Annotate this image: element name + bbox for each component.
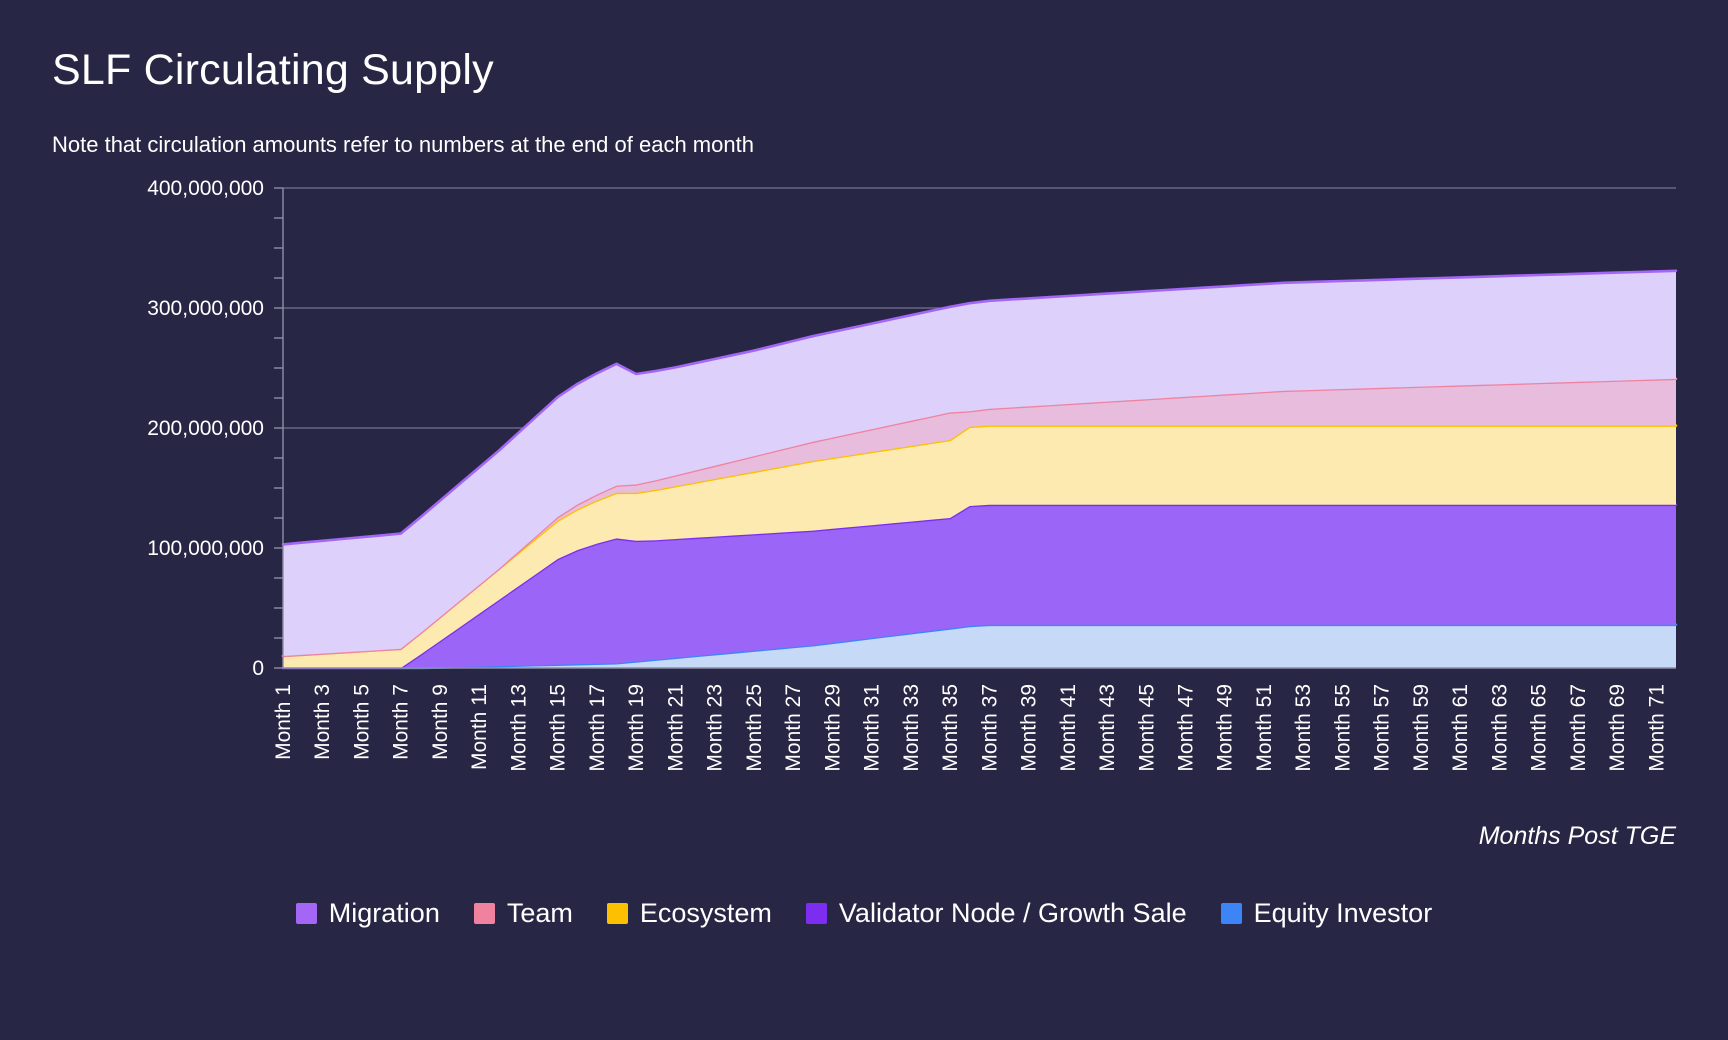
stacked-area-chart: 0100,000,000200,000,000300,000,000400,00…: [0, 0, 1728, 1040]
x-tick-label: Month 35: [939, 684, 962, 772]
x-tick-label: Month 19: [625, 684, 648, 772]
x-tick-label: Month 67: [1567, 684, 1590, 772]
x-tick-label: Month 37: [978, 684, 1001, 772]
x-tick-label: Month 71: [1645, 684, 1668, 772]
x-tick-label: Month 5: [350, 684, 373, 760]
y-tick-labels: 0100,000,000200,000,000300,000,000400,00…: [147, 177, 264, 680]
x-tick-label: Month 11: [468, 684, 491, 770]
legend-item[interactable]: Equity Investor: [1221, 898, 1433, 929]
area-series-group: [283, 271, 1676, 668]
x-tick-label: Month 57: [1371, 684, 1394, 772]
x-tick-label: Month 47: [1175, 684, 1198, 772]
chart-legend: MigrationTeamEcosystemValidator Node / G…: [0, 898, 1728, 929]
y-tick-label: 300,000,000: [147, 297, 264, 320]
legend-item[interactable]: Migration: [296, 898, 440, 929]
x-tick-label: Month 29: [821, 684, 844, 772]
x-tick-label: Month 65: [1528, 684, 1551, 772]
legend-item[interactable]: Team: [474, 898, 573, 929]
chart-plot-area: 0100,000,000200,000,000300,000,000400,00…: [0, 0, 1728, 1040]
x-axis-title: Months Post TGE: [1479, 822, 1676, 851]
x-tick-labels: Month 1Month 3Month 5Month 7Month 9Month…: [272, 684, 1668, 772]
x-tick-label: Month 31: [861, 684, 884, 772]
x-tick-label: Month 9: [429, 684, 452, 760]
x-tick-label: Month 45: [1135, 684, 1158, 772]
legend-item-label: Team: [507, 898, 573, 929]
x-tick-label: Month 53: [1292, 684, 1315, 772]
legend-swatch-icon: [806, 903, 827, 924]
legend-swatch-icon: [607, 903, 628, 924]
legend-swatch-icon: [1221, 903, 1242, 924]
x-tick-label: Month 27: [782, 684, 805, 772]
legend-item-label: Migration: [329, 898, 440, 929]
y-tick-label: 200,000,000: [147, 417, 264, 440]
legend-swatch-icon: [474, 903, 495, 924]
legend-item[interactable]: Validator Node / Growth Sale: [806, 898, 1187, 929]
x-tick-label: Month 43: [1096, 684, 1119, 772]
legend-item-label: Validator Node / Growth Sale: [839, 898, 1187, 929]
x-tick-label: Month 49: [1214, 684, 1237, 772]
x-tick-label: Month 7: [390, 684, 413, 760]
x-tick-label: Month 25: [743, 684, 766, 772]
legend-item-label: Equity Investor: [1254, 898, 1433, 929]
x-tick-label: Month 1: [272, 684, 295, 760]
x-tick-label: Month 39: [1018, 684, 1041, 772]
y-tick-label: 100,000,000: [147, 537, 264, 560]
x-tick-label: Month 13: [507, 684, 530, 772]
x-tick-label: Month 41: [1057, 684, 1080, 772]
legend-item-label: Ecosystem: [640, 898, 772, 929]
x-tick-label: Month 55: [1331, 684, 1354, 772]
legend-item[interactable]: Ecosystem: [607, 898, 772, 929]
legend-swatch-icon: [296, 903, 317, 924]
x-tick-label: Month 23: [704, 684, 727, 772]
x-tick-label: Month 59: [1410, 684, 1433, 772]
y-tick-label: 0: [252, 657, 264, 680]
x-tick-label: Month 63: [1488, 684, 1511, 772]
x-tick-label: Month 3: [311, 684, 334, 760]
x-tick-label: Month 15: [547, 684, 570, 772]
x-tick-label: Month 17: [586, 684, 609, 772]
x-tick-label: Month 21: [664, 684, 687, 772]
x-tick-label: Month 51: [1253, 684, 1276, 772]
x-tick-label: Month 33: [900, 684, 923, 772]
y-tick-label: 400,000,000: [147, 177, 264, 200]
x-tick-label: Month 61: [1449, 684, 1472, 772]
x-tick-label: Month 69: [1606, 684, 1629, 772]
